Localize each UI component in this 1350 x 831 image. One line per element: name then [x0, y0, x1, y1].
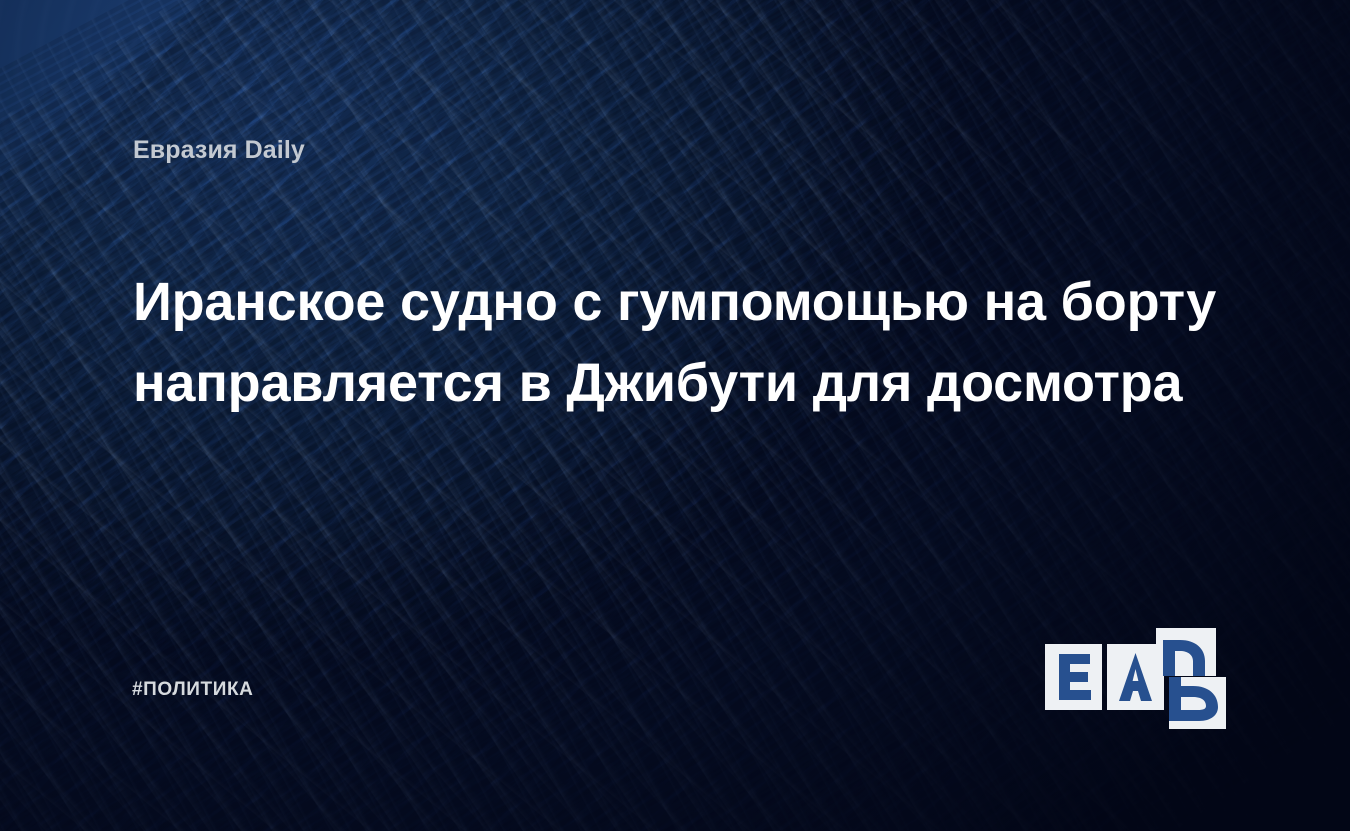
page-title: Иранское судно с гумпомощью на борту нап… — [133, 262, 1243, 424]
news-card: Евразия Daily Иранское судно с гумпомощь… — [0, 0, 1350, 831]
category-tag[interactable]: #ПОЛИТИКА — [132, 679, 254, 701]
brand-name: Евразия Daily — [133, 136, 305, 165]
headline-line-2: направляется в Джибути для досмотра — [133, 343, 1243, 424]
headline-line-1: Иранское судно с гумпомощью на борту — [133, 262, 1243, 343]
logo-tile-d-top — [1156, 628, 1216, 676]
logo-tile-d-bottom — [1169, 677, 1226, 729]
logo-tile-e — [1045, 644, 1102, 710]
card-content: Евразия Daily Иранское судно с гумпомощь… — [0, 0, 1350, 831]
eadaily-logo[interactable] — [1045, 628, 1225, 710]
